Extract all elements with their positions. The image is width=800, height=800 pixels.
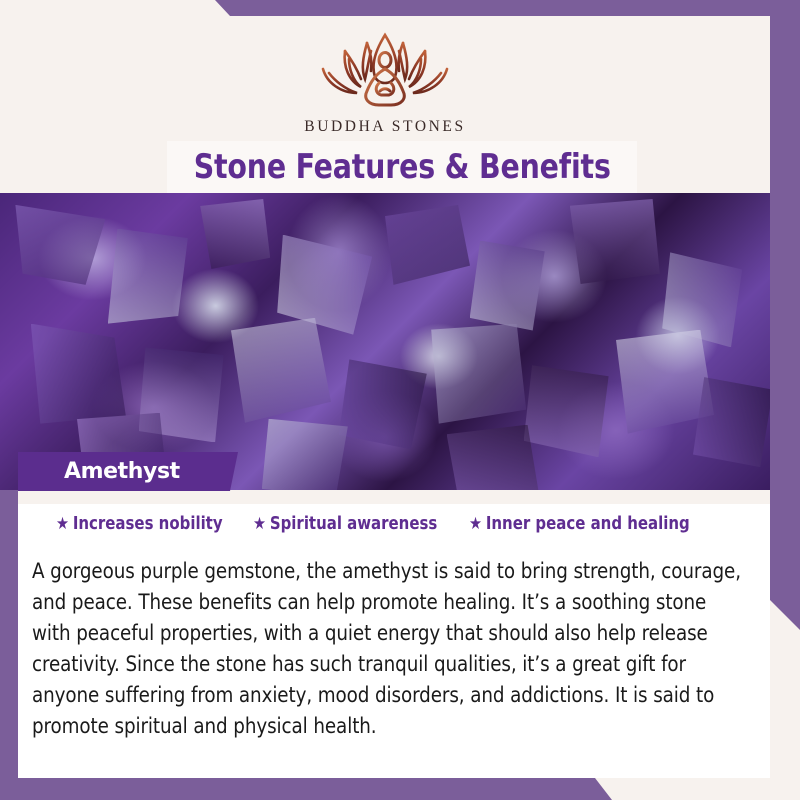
page-title: Stone Features & Benefits [193,147,610,187]
benefit-item-2: ★ Inner peace and healing [469,514,690,534]
benefit-label: Increases nobility [73,514,223,534]
frame-band-top [0,0,800,16]
stone-name: Amethyst [64,459,180,484]
star-icon: ★ [253,516,266,533]
infographic-page: BUDDHA STONES Stone Features & Benefits [0,0,800,800]
amethyst-photo [0,193,770,490]
stone-description: A gorgeous purple gemstone, the amethyst… [32,556,742,742]
frame-band-bottom [0,778,800,800]
content-top-strip [18,490,770,504]
photo-facets [0,193,770,490]
star-icon: ★ [56,516,69,533]
benefit-item-1: ★ Spiritual awareness [253,514,437,534]
lotus-meditation-logo-icon [300,24,470,116]
benefit-item-0: ★ Increases nobility [56,514,223,534]
stone-name-banner: Amethyst [18,452,238,491]
benefit-label: Spiritual awareness [270,514,437,534]
frame-band-right [770,0,800,630]
frame-band-left [0,488,18,800]
benefit-label: Inner peace and healing [486,514,690,534]
benefits-list: ★ Increases nobility ★ Spiritual awarene… [18,514,778,534]
star-icon: ★ [469,516,482,533]
page-title-plate: Stone Features & Benefits [167,141,637,193]
brand-name: BUDDHA STONES [304,118,465,136]
